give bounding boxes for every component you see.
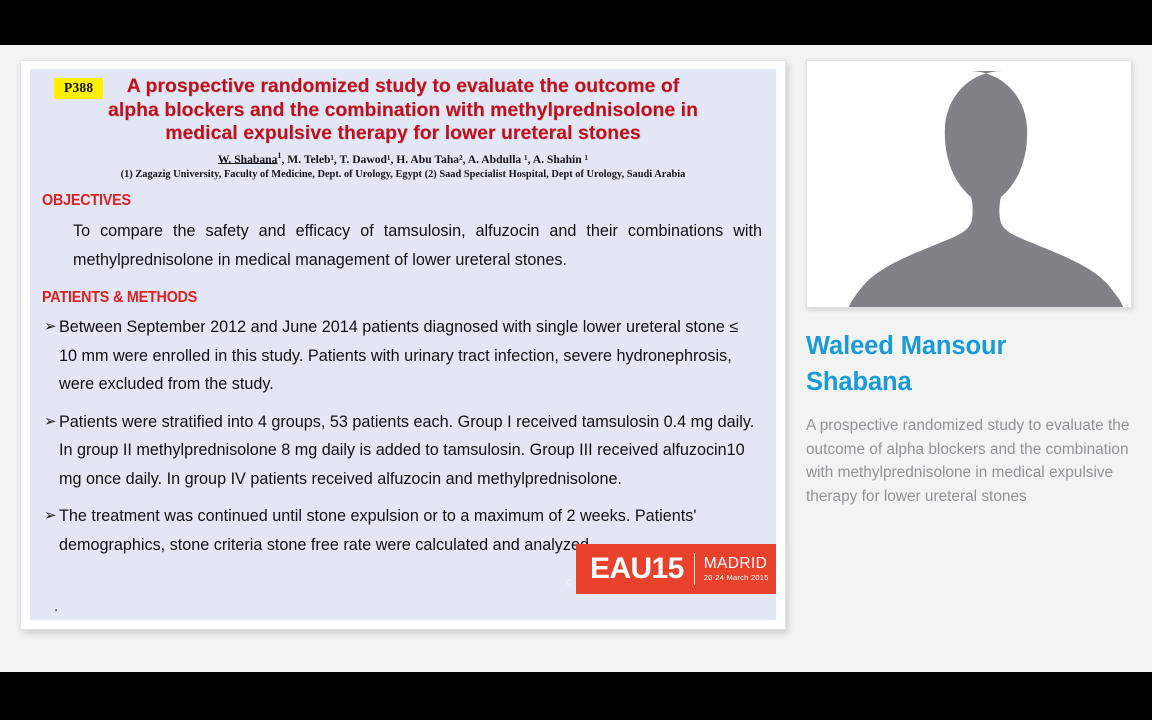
poster-title: A prospective randomized study to evalua…	[50, 75, 756, 146]
eau-congress-logo: EAU15 MADRID 20-24 March 2015	[576, 544, 776, 594]
presenter-name-line-2: Shabana	[806, 364, 1132, 400]
co-author-names: , M. Teleb¹, T. Dawod¹, H. Abu Taha², A.…	[282, 152, 589, 165]
letterbox-bar-bottom	[0, 672, 1152, 720]
arrow-bullet-icon: ➢	[44, 313, 57, 342]
trailing-punctuation: .	[54, 599, 58, 614]
video-player-stage: P388 A prospective randomized study to e…	[0, 0, 1152, 720]
person-silhouette-icon	[807, 61, 1131, 307]
eau-logo-location-block: MADRID 20-24 March 2015	[704, 556, 769, 582]
eau-logo-city: MADRID	[704, 556, 769, 572]
list-item: ➢ Patients were stratified into 4 groups…	[44, 408, 760, 494]
list-item-text: Between September 2012 and June 2014 pat…	[59, 318, 738, 393]
presentation-description: A prospective randomized study to evalua…	[806, 414, 1132, 508]
presenter-name-line-1: Waleed Mansour	[806, 328, 1132, 364]
presenter-avatar	[806, 60, 1132, 308]
poster-affiliations: (1) Zagazig University, Faculty of Medic…	[30, 168, 776, 181]
presenter-info-panel: Waleed Mansour Shabana A prospective ran…	[806, 60, 1132, 508]
arrow-bullet-icon: ➢	[44, 502, 57, 531]
eau-logo-divider	[694, 553, 695, 585]
arrow-bullet-icon: ➢	[44, 408, 57, 437]
list-item-text: Patients were stratified into 4 groups, …	[59, 413, 754, 488]
letterbox-bar-top	[0, 0, 1152, 45]
poster-title-line-2: alpha blockers and the combination with …	[50, 99, 756, 123]
presenter-name: Waleed Mansour Shabana	[806, 328, 1132, 400]
poster-authors: W. Shabana1, M. Teleb¹, T. Dawod¹, H. Ab…	[30, 149, 776, 167]
logo-watermark-glyph: c	[566, 576, 572, 588]
poster-title-line-1: A prospective randomized study to evalua…	[50, 75, 756, 99]
section-heading-patients-methods: PATIENTS & METHODS	[42, 289, 725, 307]
slide-viewport: P388 A prospective randomized study to e…	[0, 45, 1152, 672]
eau-logo-dates: 20-24 March 2015	[704, 574, 769, 582]
poster-number-badge: P388	[54, 78, 103, 99]
list-item: ➢ Between September 2012 and June 2014 p…	[44, 313, 760, 399]
poster-slide-card[interactable]: P388 A prospective randomized study to e…	[20, 60, 786, 630]
eau-logo-wordmark: EAU15	[576, 554, 684, 584]
lead-author-name: W. Shabana	[218, 152, 278, 165]
poster-content: P388 A prospective randomized study to e…	[30, 69, 776, 620]
section-heading-objectives: OBJECTIVES	[42, 192, 725, 210]
methods-bullet-list: ➢ Between September 2012 and June 2014 p…	[44, 313, 760, 559]
poster-title-line-3: medical expulsive therapy for lower uret…	[50, 122, 756, 146]
objectives-body-text: To compare the safety and efficacy of ta…	[73, 217, 762, 275]
